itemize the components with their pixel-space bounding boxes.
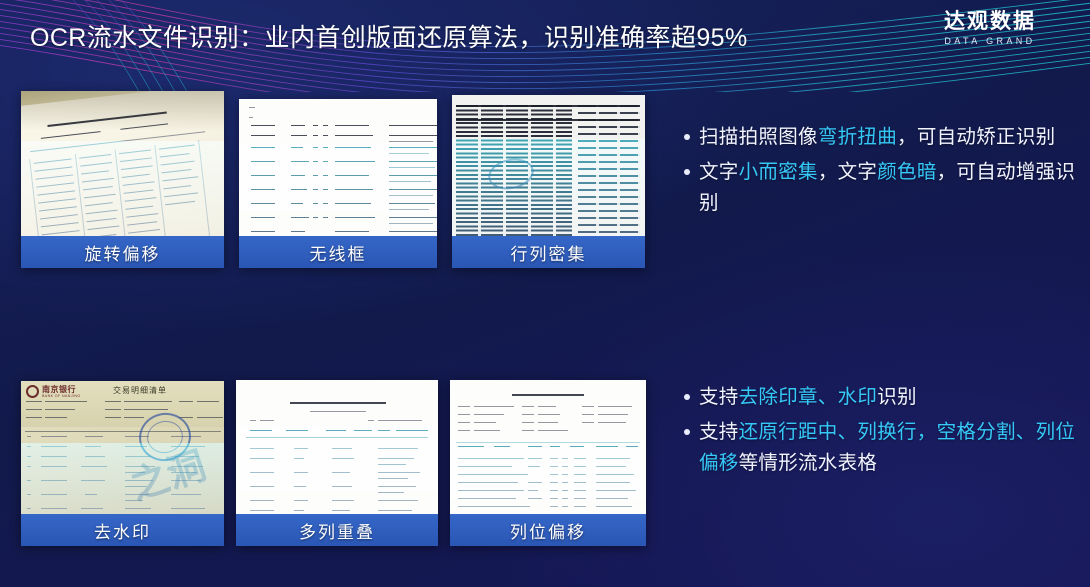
bullet-highlight: 小而密集 bbox=[739, 161, 818, 183]
bank-name-en: BANK OF NANJING bbox=[42, 394, 81, 398]
bullet-item: 文字小而密集，文字颜色暗，可自动增强识别 bbox=[684, 157, 1076, 219]
bullet-plain: 支持 bbox=[699, 386, 739, 408]
bullet-text: 扫描拍照图像弯折扭曲，可自动矫正识别 bbox=[699, 122, 1055, 153]
bullet-text: 支持去除印章、水印识别 bbox=[699, 382, 917, 413]
thumbnail-card-watermark[interactable]: 南京银行 BANK OF NANJING 交易明细清单 bbox=[21, 381, 224, 546]
bullet-text: 支持还原行距中、列换行，空格分割、列位偏移等情形流水表格 bbox=[699, 417, 1076, 479]
bullet-item: 扫描拍照图像弯折扭曲，可自动矫正识别 bbox=[684, 122, 1076, 153]
bullet-plain: 扫描拍照图像 bbox=[699, 126, 818, 148]
bullet-highlight: 弯折扭曲 bbox=[818, 126, 897, 148]
bullet-plain: 等情形流水表格 bbox=[739, 452, 878, 474]
brand-logo: 达观数据 DATA GRAND bbox=[910, 10, 1070, 46]
bullet-dot-icon bbox=[684, 394, 690, 400]
thumbnail-caption: 旋转偏移 bbox=[21, 236, 224, 268]
bullet-item: 支持去除印章、水印识别 bbox=[684, 382, 1076, 413]
bullet-dot-icon bbox=[684, 134, 690, 140]
bullet-dot-icon bbox=[684, 429, 690, 435]
thumbnail-caption: 行列密集 bbox=[452, 236, 645, 268]
slide-canvas: OCR流水文件识别：业内首创版面还原算法，识别准确率超95% 达观数据 DATA… bbox=[0, 0, 1090, 587]
thumbnail-caption: 无线框 bbox=[239, 236, 437, 268]
brand-logo-en: DATA GRAND bbox=[910, 36, 1070, 46]
bullet-dot-icon bbox=[684, 169, 690, 175]
thumbnail-card-borderless[interactable]: 无线框 bbox=[239, 99, 437, 268]
bullet-group-top: 扫描拍照图像弯折扭曲，可自动矫正识别文字小而密集，文字颜色暗，可自动增强识别 bbox=[684, 122, 1076, 223]
bullet-group-bottom: 支持去除印章、水印识别支持还原行距中、列换行，空格分割、列位偏移等情形流水表格 bbox=[684, 382, 1076, 483]
bullet-plain: 支持 bbox=[699, 421, 739, 443]
bullet-plain: ，文字 bbox=[818, 161, 877, 183]
thumbnail-caption: 列位偏移 bbox=[450, 514, 646, 546]
thumbnail-card-shifted[interactable]: 列位偏移 bbox=[450, 380, 646, 546]
doc-title: 交易明细清单 bbox=[113, 385, 167, 396]
thumbnail-card-rotated[interactable]: 旋转偏移 bbox=[21, 91, 224, 268]
brand-logo-cn: 达观数据 bbox=[910, 10, 1070, 33]
thumbnail-caption: 去水印 bbox=[21, 514, 224, 546]
slide-title: OCR流水文件识别：业内首创版面还原算法，识别准确率超95% bbox=[30, 18, 748, 54]
thumbnail-caption: 多列重叠 bbox=[236, 514, 438, 546]
bullet-plain: ，可自动矫正识别 bbox=[897, 126, 1055, 148]
bullet-plain: 文字 bbox=[699, 161, 739, 183]
thumbnail-card-overlap[interactable]: 多列重叠 bbox=[236, 380, 438, 546]
thumbnail-card-dense[interactable]: 行列密集 bbox=[452, 95, 645, 268]
bullet-highlight: 去除印章、水印 bbox=[739, 386, 878, 408]
bullet-text: 文字小而密集，文字颜色暗，可自动增强识别 bbox=[699, 157, 1076, 219]
bullet-item: 支持还原行距中、列换行，空格分割、列位偏移等情形流水表格 bbox=[684, 417, 1076, 479]
bullet-plain: 识别 bbox=[877, 386, 917, 408]
bank-logo-icon bbox=[26, 385, 39, 398]
bullet-highlight: 颜色暗 bbox=[877, 161, 936, 183]
